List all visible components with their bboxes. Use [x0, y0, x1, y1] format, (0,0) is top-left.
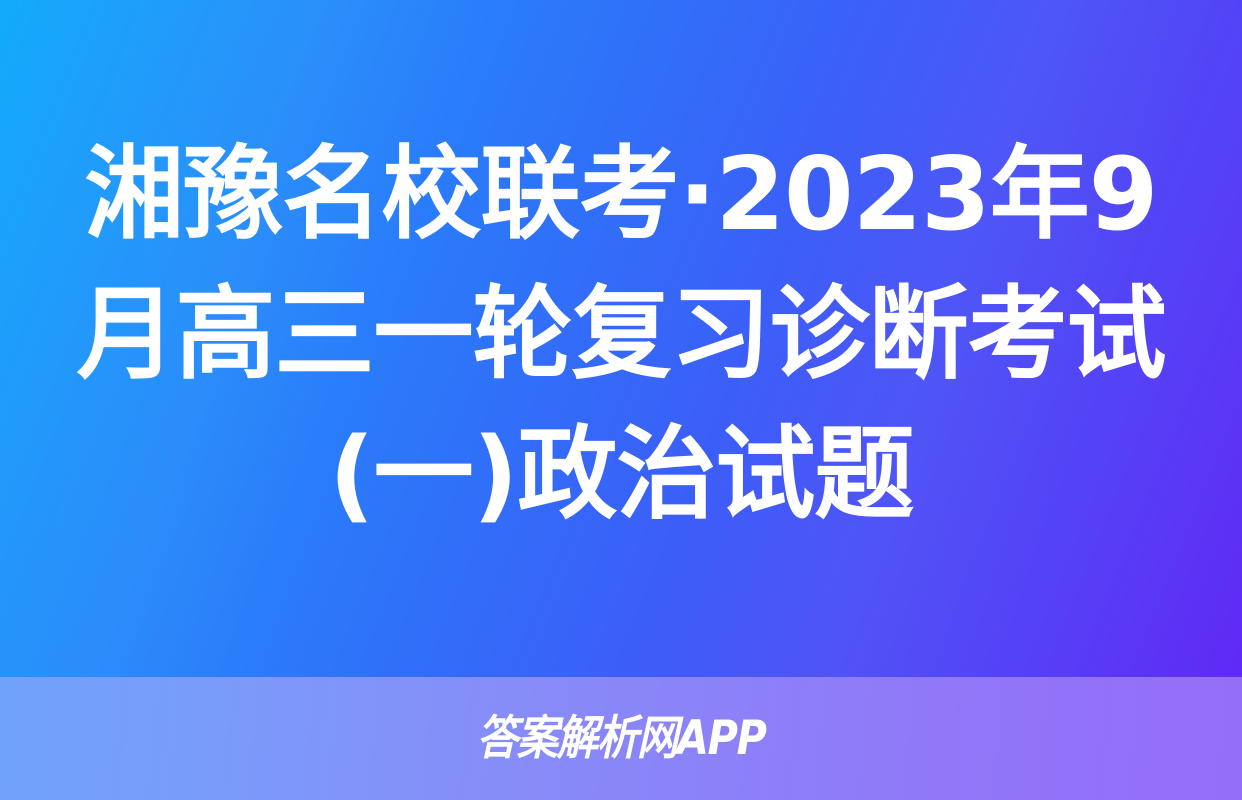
exam-title-line-1: 湘豫名校联考·2023年9: [85, 124, 1158, 264]
footer-inner: 答案解析网APP: [0, 715, 1242, 762]
exam-cover-poster: 湘豫名校联考·2023年9 月高三一轮复习诊断考试 (一)政治试题 答案解析网A…: [0, 0, 1242, 800]
footer-watermark-band: 答案解析网APP: [0, 677, 1242, 800]
app-watermark-text: 答案解析网APP: [477, 715, 766, 762]
exam-title-line-3: (一)政治试题: [329, 404, 913, 544]
exam-title-line-2: 月高三一轮复习诊断考试: [76, 264, 1165, 404]
exam-title-block: 湘豫名校联考·2023年9 月高三一轮复习诊断考试 (一)政治试题: [0, 0, 1242, 677]
